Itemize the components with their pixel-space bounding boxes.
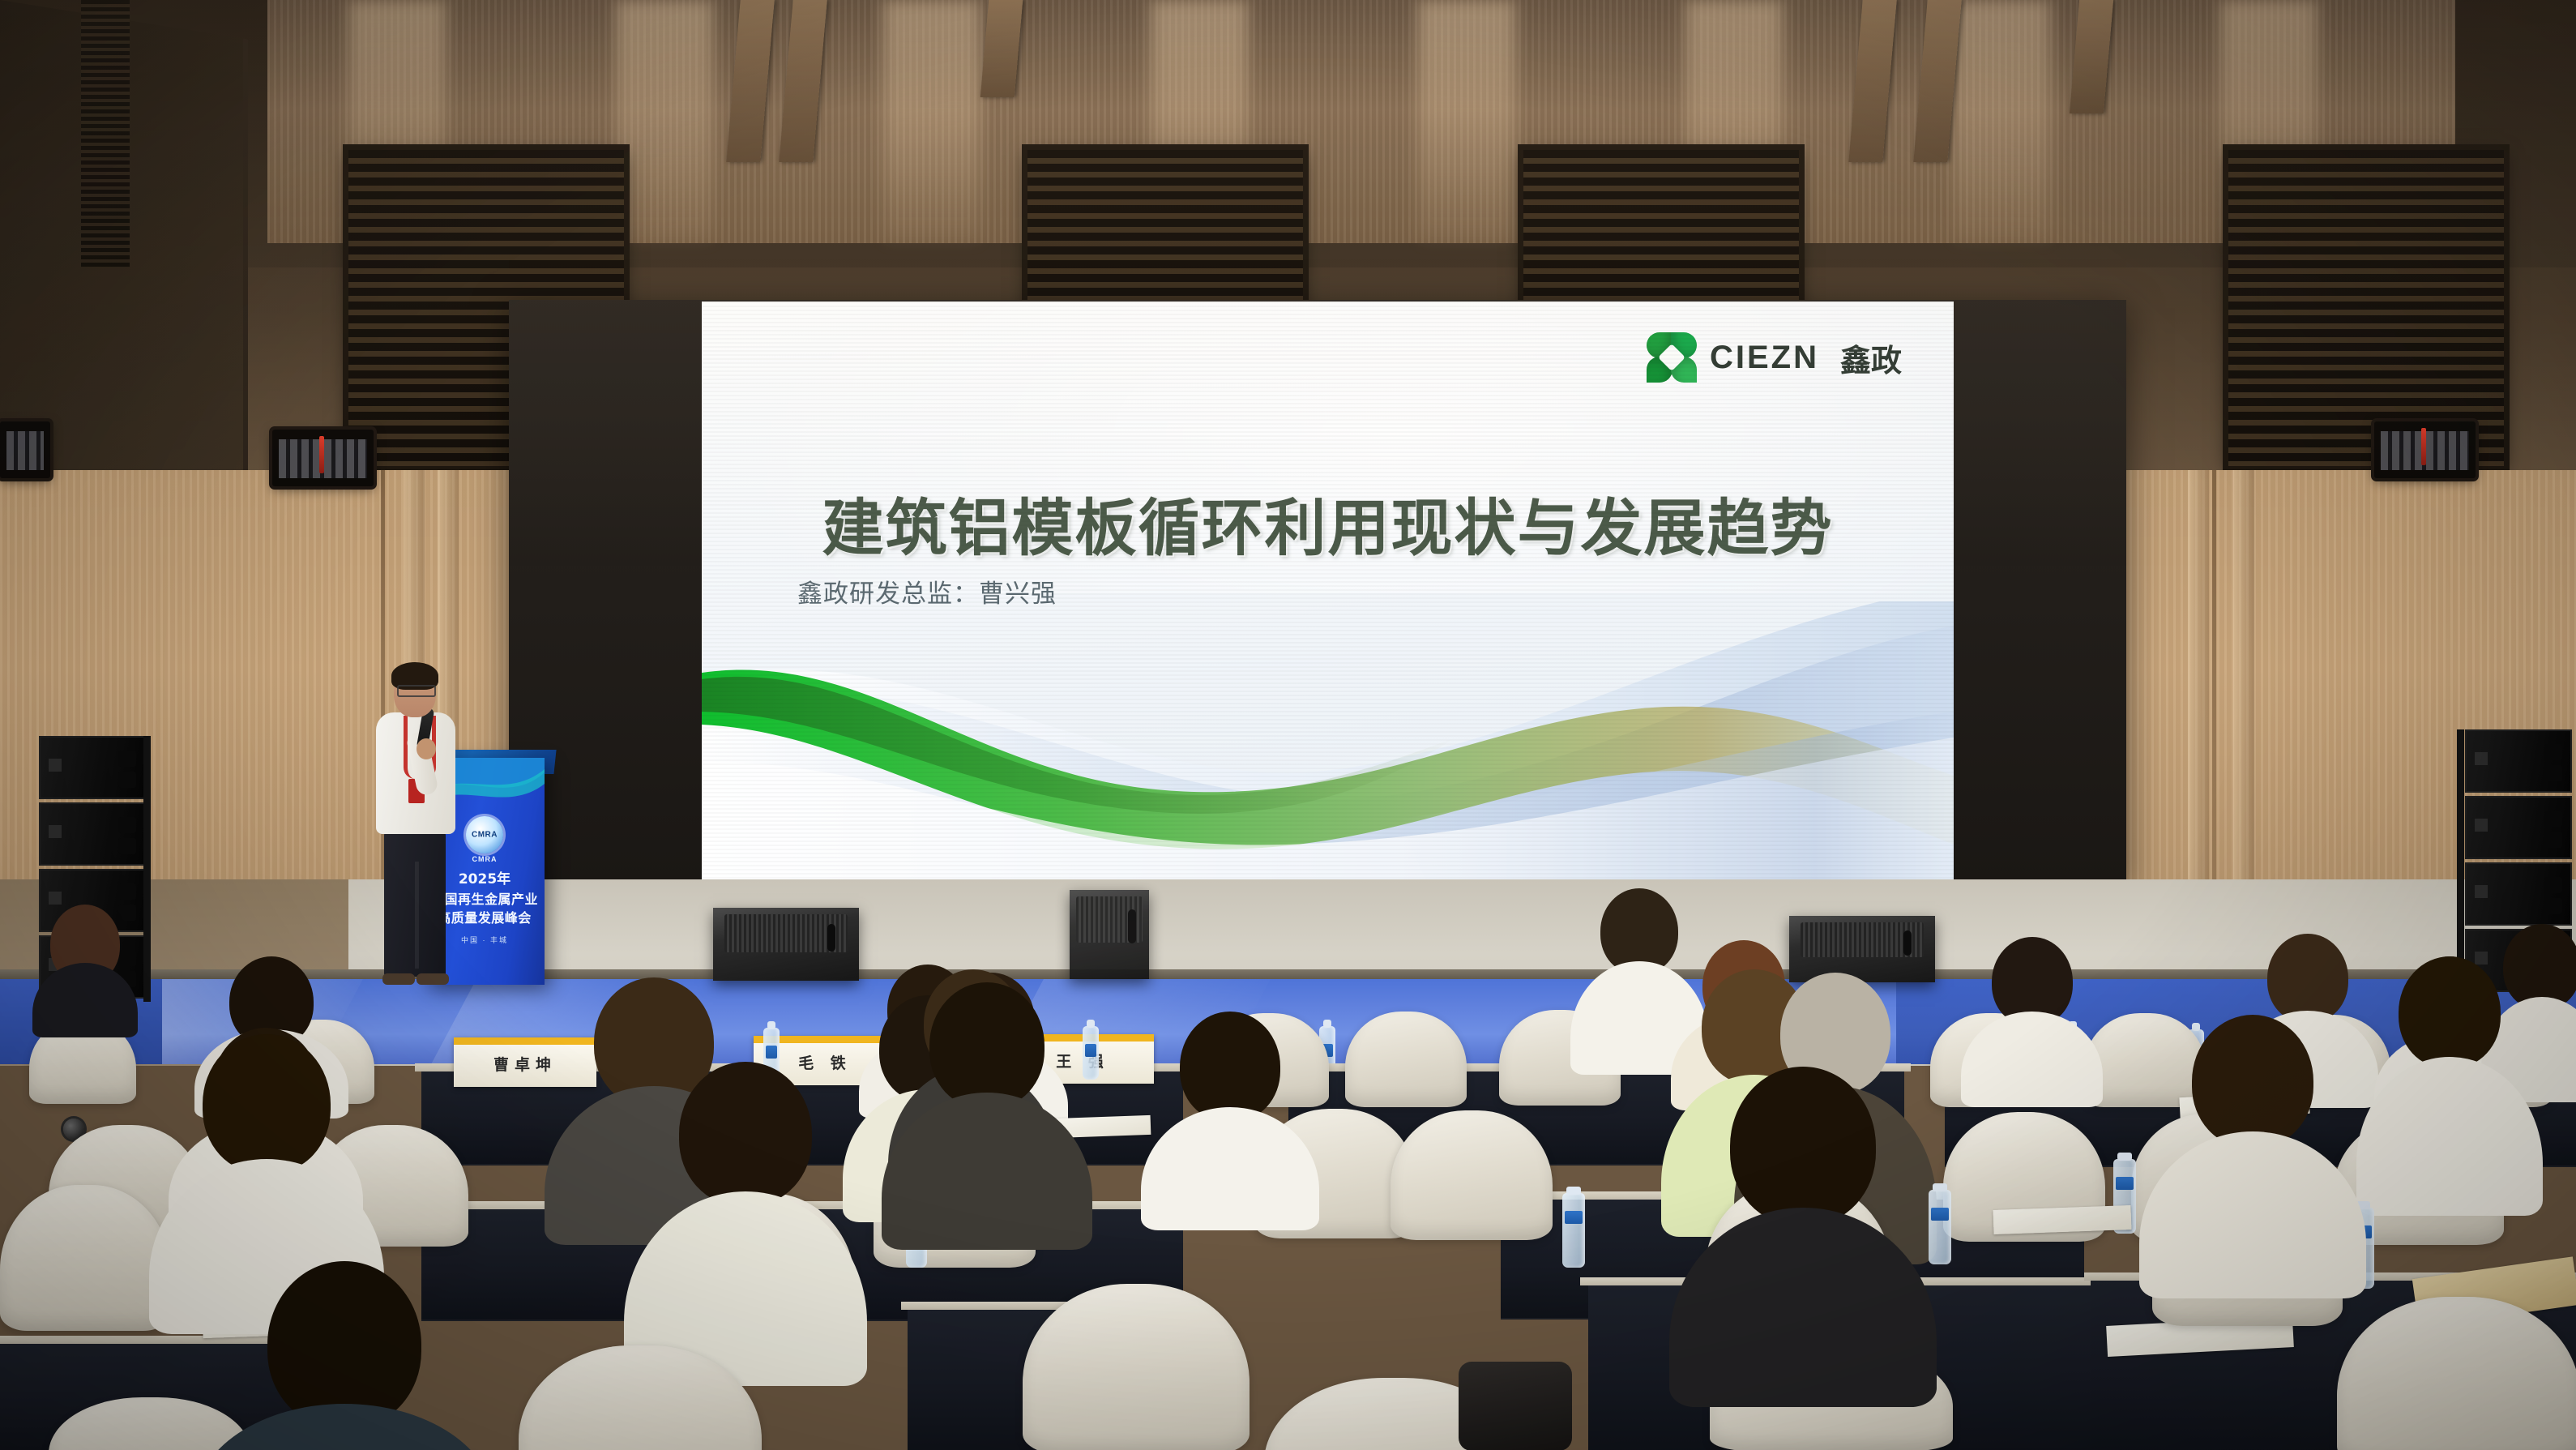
audience-member [624, 1062, 867, 1386]
water-bottle [1562, 1193, 1585, 1268]
ciezn-pinwheel-logo-icon [1647, 332, 1697, 383]
ceiling-light-cone [1953, 0, 2050, 243]
wall-vent-niche-left [272, 430, 374, 486]
document-paper [1993, 1205, 2132, 1234]
ceiling-slat-dark [81, 0, 130, 267]
audience-member [882, 982, 1092, 1250]
presenter-shoe [382, 973, 415, 985]
wall-vent-niche-right [2374, 421, 2476, 478]
niche-red-marker [319, 436, 324, 473]
chair [1023, 1284, 1250, 1450]
audience-member [32, 900, 138, 1037]
wall-vent-niche-left-2 [0, 421, 50, 478]
ceiling-light-cone [1418, 0, 1515, 243]
presenter-hand [417, 738, 436, 759]
presenter-legs [384, 829, 446, 977]
chair [1345, 1012, 1467, 1107]
presenter-glasses [397, 685, 436, 697]
audience-member [194, 1261, 494, 1450]
ceiling-vent-grille [2228, 150, 2504, 466]
niche-louvers [6, 431, 44, 470]
brand-chinese-text: 鑫政 [1840, 336, 1902, 380]
niche-red-marker [2421, 428, 2426, 465]
audience-member [2356, 956, 2543, 1216]
cmra-logo-caption: CMRA [472, 855, 498, 863]
audience-member [1141, 1012, 1319, 1230]
ceiling-light-cone [883, 0, 980, 243]
brand-latin-text: CIEZN [1710, 340, 1819, 376]
ceiling-light-cone [616, 0, 713, 243]
presenter-shoe [417, 973, 449, 985]
chair [0, 1185, 170, 1331]
cmra-logo-icon: CMRA [466, 816, 503, 853]
stage-monitor-speaker [713, 908, 859, 981]
stage-monitor-speaker [1070, 890, 1149, 979]
audience-member [2139, 1015, 2366, 1298]
floor-bag [1459, 1362, 1572, 1450]
presenter [366, 661, 464, 985]
audience-member [1669, 1067, 1937, 1407]
chair [1391, 1110, 1553, 1240]
cmra-logo-text: CMRA [472, 831, 498, 840]
slide-title: 建筑铝模板循环利用现状与发展趋势 [702, 478, 1954, 567]
slide-wave-graphic [702, 601, 1954, 885]
audience-member [1961, 937, 2103, 1107]
slide-brand-logo: CIEZN 鑫政 [1647, 332, 1902, 383]
led-screen[interactable]: CIEZN 鑫政 建筑铝模板循环利用现状与发展趋势 鑫政研发总监：曹兴强 [702, 302, 1954, 885]
conference-hall-photo: CIEZN 鑫政 建筑铝模板循环利用现状与发展趋势 鑫政研发总监：曹兴强 [0, 0, 2576, 1450]
